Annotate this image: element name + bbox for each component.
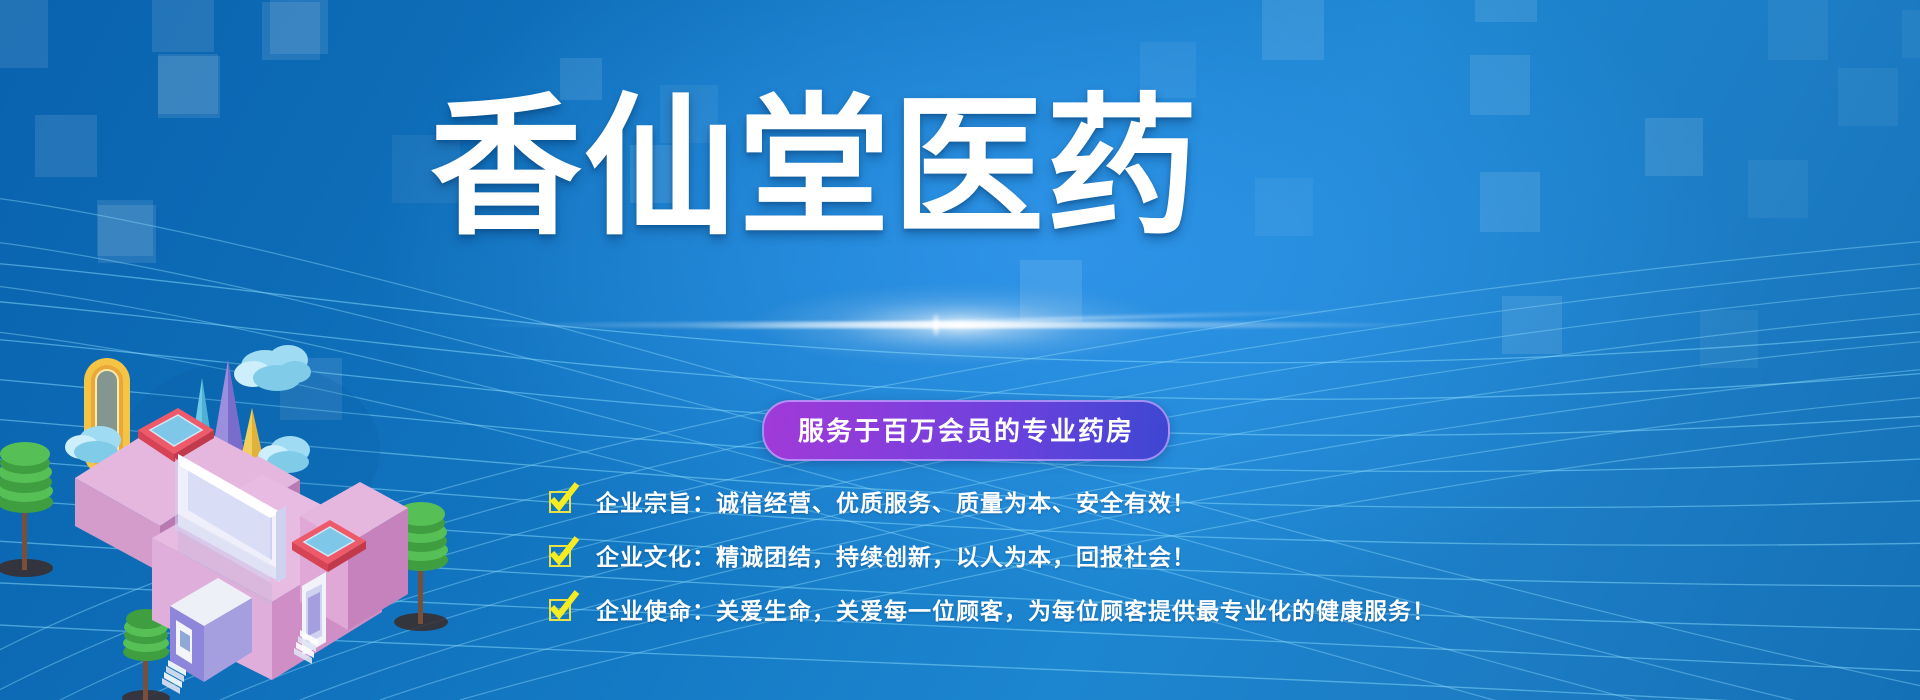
check-box-icon — [548, 542, 574, 568]
decor-square — [1255, 178, 1313, 236]
list-item-label: 企业使命：关爱生命，关爱每一位顾客，为每位顾客提供最专业化的健康服务！ — [596, 592, 1436, 626]
decor-square — [0, 0, 48, 68]
decor-square — [1480, 172, 1540, 232]
check-box-icon — [548, 596, 574, 622]
decor-square — [270, 0, 328, 54]
page-title: 香仙堂医药 — [430, 92, 1170, 244]
list-item-label: 企业宗旨：诚信经营、优质服务、质量为本、安全有效！ — [596, 484, 1196, 518]
list-item: 企业宗旨：诚信经营、优质服务、质量为本、安全有效！ — [548, 474, 1436, 528]
promotional-banner: 香仙堂医药 服务于百万会员的专业药房 企业宗旨：诚信经营、优质服务、质量为本、安… — [0, 0, 1920, 700]
check-mark-icon — [548, 592, 578, 622]
list-item: 企业文化：精诚团结，持续创新，以人为本，回报社会！ — [548, 528, 1436, 582]
flare-glow — [750, 286, 1170, 364]
list-item-label: 企业文化：精诚团结，持续创新，以人为本，回报社会！ — [596, 538, 1196, 572]
subtitle-badge: 服务于百万会员的专业药房 — [762, 400, 1170, 461]
title-container: 香仙堂医药 — [430, 92, 1170, 244]
flare-spark — [931, 312, 941, 338]
decor-square — [1502, 296, 1562, 354]
feature-list: 企业宗旨：诚信经营、优质服务、质量为本、安全有效！ 企业文化：精诚团结，持续创新… — [548, 474, 1436, 636]
check-mark-icon — [548, 538, 578, 568]
flare-streak — [470, 322, 1450, 329]
list-item: 企业使命：关爱生命，关爱每一位顾客，为每位顾客提供最专业化的健康服务！ — [548, 582, 1436, 636]
decor-square — [1020, 260, 1082, 322]
decor-square — [1470, 55, 1530, 115]
tree-left — [0, 442, 53, 577]
decor-square — [97, 200, 153, 256]
decor-square — [1262, 0, 1324, 60]
decor-square — [1838, 68, 1898, 126]
decor-square — [1768, 0, 1828, 60]
decor-square — [158, 56, 220, 118]
decor-square — [1700, 310, 1758, 368]
light-flare — [470, 280, 1450, 370]
decor-square — [1645, 118, 1703, 176]
decor-square — [35, 115, 97, 177]
decor-square — [1748, 160, 1808, 218]
check-box-icon — [548, 488, 574, 514]
flare-streak-secondary — [669, 309, 1369, 330]
isometric-pharmacy-illustration — [0, 330, 470, 700]
decor-square — [1902, 10, 1920, 58]
decor-square — [1475, 0, 1537, 22]
decor-square — [152, 0, 214, 52]
check-mark-icon — [548, 484, 578, 514]
